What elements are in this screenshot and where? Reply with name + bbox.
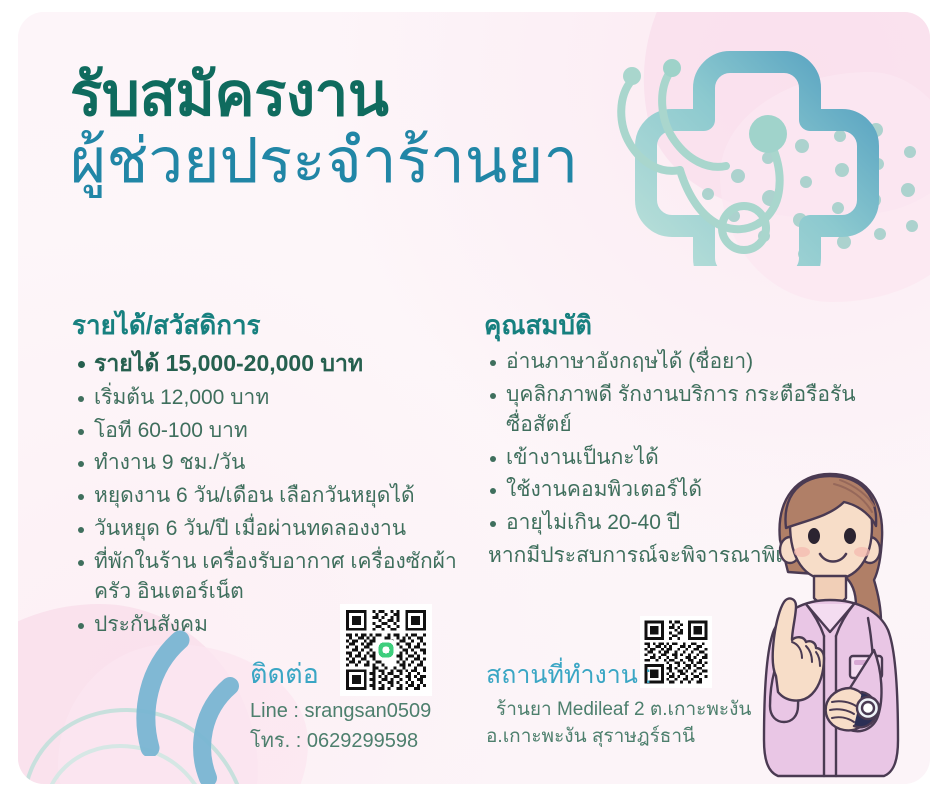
benefits-list: รายได้ 15,000-20,000 บาท เริ่มต้น 12,000…: [72, 347, 472, 639]
list-item: รายได้ 15,000-20,000 บาท: [72, 347, 472, 380]
list-item: โอที 60-100 บาท: [72, 416, 472, 446]
benefits-column: รายได้/สวัสดิการ รายได้ 15,000-20,000 บา…: [72, 310, 472, 642]
page-title: รับสมัครงาน: [70, 64, 750, 126]
list-item: เริ่มต้น 12,000 บาท: [72, 383, 472, 413]
list-item: หยุดงาน 6 วัน/เดือน เลือกวันหยุดได้: [72, 481, 472, 511]
contact-phone: โทร. : 0629299598: [250, 726, 500, 756]
list-item: อ่านภาษาอังกฤษได้ (ชื่อยา): [484, 347, 902, 377]
list-item: วันหยุด 6 วัน/ปี เมื่อผ่านทดลองงาน: [72, 514, 472, 544]
list-item: ที่พักในร้าน เครื่องรับอากาศ เครื่องซักผ…: [72, 547, 472, 607]
job-ad-poster: รับสมัครงาน ผู้ช่วยประจำร้านยา รายได้/สว…: [0, 0, 940, 788]
benefits-heading: รายได้/สวัสดิการ: [72, 310, 472, 341]
poster-card: รับสมัครงาน ผู้ช่วยประจำร้านยา รายได้/สว…: [18, 12, 930, 784]
list-item: บุคลิกภาพดี รักงานบริการ กระตือรือรัน ซื…: [484, 380, 902, 440]
contact-block: ติดต่อ Line : srangsan0509 โทร. : 062929…: [250, 660, 500, 756]
contact-heading: ติดต่อ: [250, 660, 500, 690]
pharmacist-character-illustration: [684, 454, 920, 784]
headline-block: รับสมัครงาน ผู้ช่วยประจำร้านยา: [70, 64, 750, 197]
qualifications-heading: คุณสมบัติ: [484, 310, 902, 341]
page-subtitle: ผู้ช่วยประจำร้านยา: [70, 128, 750, 196]
contact-line-id: Line : srangsan0509: [250, 696, 500, 726]
list-item: ทำงาน 9 ชม./วัน: [72, 448, 472, 478]
